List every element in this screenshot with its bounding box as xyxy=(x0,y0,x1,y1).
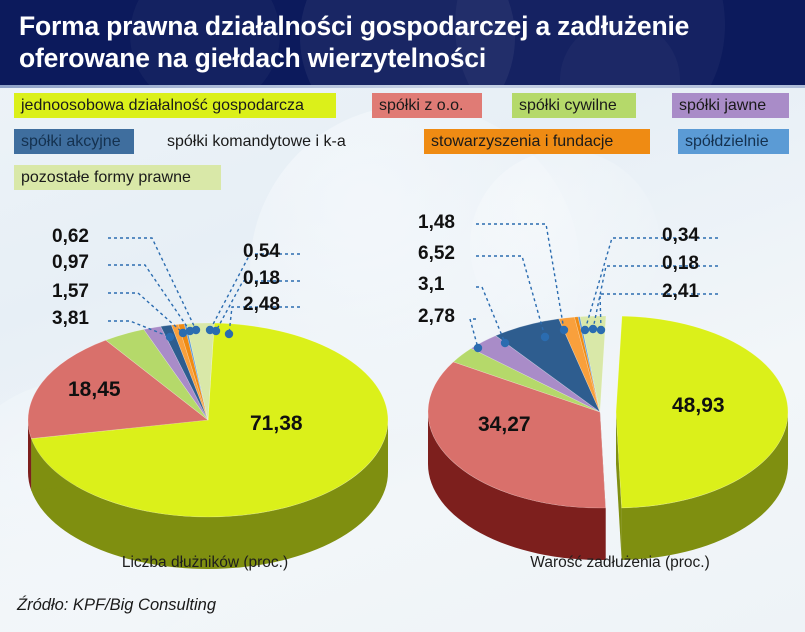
left-callout-value-3: 3,81 xyxy=(52,308,89,330)
pie-slice-top xyxy=(144,326,208,420)
right-leader-3 xyxy=(470,319,482,352)
left-callout-value-6: 2,48 xyxy=(243,294,280,316)
legend-item-2[interactable]: spółki cywilne xyxy=(512,93,636,118)
pie-slice-radial-wall xyxy=(31,420,208,491)
leader-dot xyxy=(597,326,605,334)
right-callout-value-2: 3,1 xyxy=(418,274,444,296)
source-note: Źródło: KPF/Big Consulting xyxy=(17,596,216,615)
pie-slice-top xyxy=(559,317,600,412)
right-callout-value-4: 0,34 xyxy=(662,225,699,247)
pie-slice-top xyxy=(580,316,606,412)
left-callout-value-0: 0,62 xyxy=(52,226,89,248)
pie-slice-top xyxy=(453,348,600,412)
leader-dot xyxy=(206,326,214,334)
legend-item-6[interactable]: stowarzyszenia i fundacje xyxy=(424,129,650,154)
pie-slice-side xyxy=(28,420,31,491)
legend-item-label: spółki z o.o. xyxy=(379,93,463,118)
infographic-page: Forma prawna działalności gospodarczej a… xyxy=(0,0,805,632)
left-pie-main-value: 71,38 xyxy=(250,412,303,436)
leader-dot xyxy=(212,327,220,335)
pie-slice-top xyxy=(31,323,388,517)
legend-item-5[interactable]: spółki komandytowe i k-a xyxy=(160,129,383,154)
legend-item-4[interactable]: spółki akcyjne xyxy=(14,129,134,154)
left-callout-value-5: 0,18 xyxy=(243,268,280,290)
pie-slice-top xyxy=(171,324,208,420)
right-leader-1 xyxy=(476,256,549,341)
right-leader-6 xyxy=(597,294,718,334)
legend-item-label: spółki cywilne xyxy=(519,93,617,118)
left-callout-value-4: 0,54 xyxy=(243,241,280,263)
pie-slice-top xyxy=(106,329,208,420)
legend-item-7[interactable]: spółdzielnie xyxy=(678,129,789,154)
leader-dot xyxy=(589,325,597,333)
legend-item-8[interactable]: pozostałe formy prawne xyxy=(14,165,221,190)
legend-item-label: spółki komandytowe i k-a xyxy=(167,129,346,154)
leader-dot xyxy=(225,330,233,338)
right-callout-value-3: 2,78 xyxy=(418,306,455,328)
left-pie-chart xyxy=(28,323,388,569)
legend-row: pozostałe formy prawne xyxy=(0,165,805,201)
left-callout-value-1: 0,97 xyxy=(52,252,89,274)
legend-row: jednoosobowa działalność gospodarczaspół… xyxy=(0,93,805,129)
legend-row: spółki akcyjnespółki komandytowe i k-ast… xyxy=(0,129,805,165)
right-leader-2 xyxy=(476,287,509,347)
legend-item-0[interactable]: jednoosobowa działalność gospodarcza xyxy=(14,93,336,118)
pie-slice-top xyxy=(186,323,214,420)
leader-dot xyxy=(501,339,509,347)
pie-slice-top xyxy=(574,317,600,412)
legend-item-label: spółdzielnie xyxy=(685,129,769,154)
pie-slice-top xyxy=(161,325,208,420)
legend-item-label: stowarzyszenia i fundacje xyxy=(431,129,613,154)
right-pie-secondary-value: 34,27 xyxy=(478,413,531,437)
pie-slice-top xyxy=(496,319,600,412)
legend-item-3[interactable]: spółki jawne xyxy=(672,93,789,118)
pie-slice-radial-wall xyxy=(31,420,208,491)
leader-dot xyxy=(192,326,200,334)
legend: jednoosobowa działalność gospodarczaspół… xyxy=(0,93,805,201)
pie-slice-top xyxy=(471,336,600,412)
leader-dot xyxy=(541,333,549,341)
legend-item-1[interactable]: spółki z o.o. xyxy=(372,93,482,118)
page-title: Forma prawna działalności gospodarczej a… xyxy=(0,0,805,75)
right-callout-value-5: 0,18 xyxy=(662,253,699,275)
left-pie-secondary-value: 18,45 xyxy=(68,378,121,402)
legend-item-label: spółki akcyjne xyxy=(21,129,121,154)
right-callout-value-6: 2,41 xyxy=(662,281,699,303)
right-pie-chart xyxy=(428,316,788,560)
right-leader-0 xyxy=(476,224,568,334)
right-callout-value-0: 1,48 xyxy=(418,212,455,234)
pie-slice-top xyxy=(578,317,600,412)
left-leader-3 xyxy=(108,321,174,341)
legend-item-label: pozostałe formy prawne xyxy=(21,165,191,190)
pie-slice-side xyxy=(622,412,788,560)
legend-item-label: spółki jawne xyxy=(679,93,766,118)
pie-slice-radial-wall xyxy=(600,412,606,560)
leader-dot xyxy=(166,333,174,341)
pie-slice-side xyxy=(31,420,388,569)
background-decoration xyxy=(0,380,220,632)
right-chart-caption: Warość zadłużenia (proc.) xyxy=(510,554,730,572)
right-callout-value-1: 6,52 xyxy=(418,243,455,265)
pie-slice-top xyxy=(178,324,208,420)
left-leader-0 xyxy=(108,238,200,334)
pie-slice-top xyxy=(184,324,208,420)
header-divider xyxy=(0,85,805,88)
left-leader-2 xyxy=(108,293,187,337)
header-banner: Forma prawna działalności gospodarczej a… xyxy=(0,0,805,88)
left-chart-caption: Liczba dłużników (proc.) xyxy=(95,554,315,572)
leader-dot xyxy=(560,326,568,334)
left-leader-1 xyxy=(108,265,194,335)
left-callout-value-2: 1,57 xyxy=(52,281,89,303)
leader-dot xyxy=(186,327,194,335)
leader-dot xyxy=(474,344,482,352)
pie-slice-radial-wall xyxy=(616,412,622,560)
right-pie-main-value: 48,93 xyxy=(672,394,725,418)
leader-dot xyxy=(179,329,187,337)
legend-item-label: jednoosobowa działalność gospodarcza xyxy=(21,93,304,118)
leader-dot xyxy=(581,326,589,334)
